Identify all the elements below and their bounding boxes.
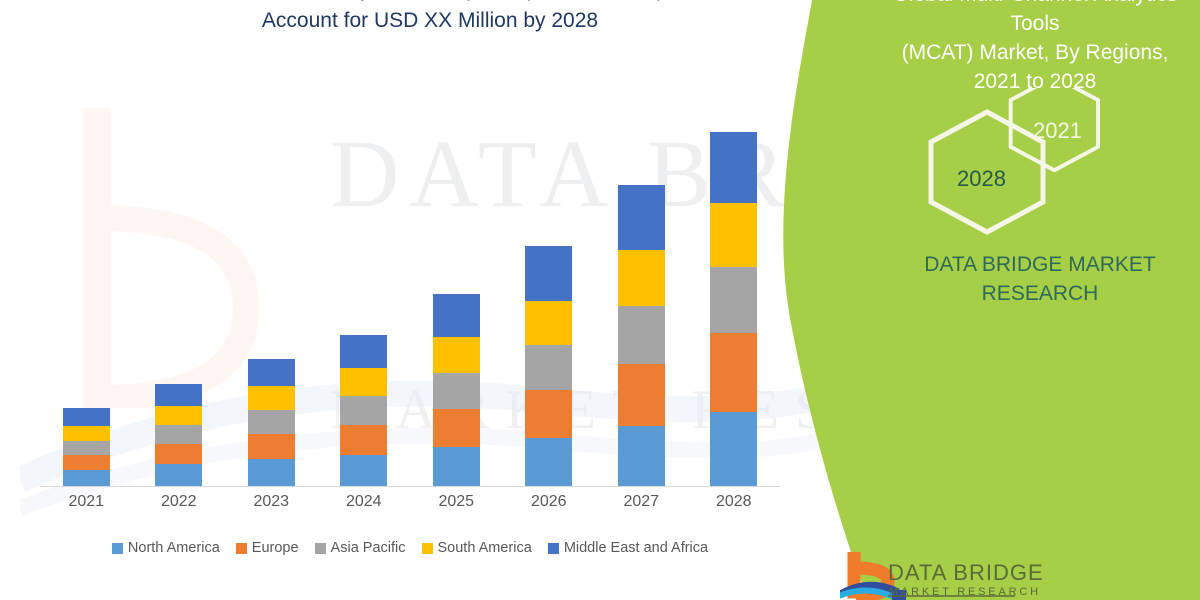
brand-name: DATA BRIDGE MARKET RESEARCH <box>890 250 1190 308</box>
hexagon-pair: 2021 2028 <box>915 88 1145 238</box>
hexagon-outlines-icon <box>915 88 1145 238</box>
panel-title-line-2: (MCAT) Market, By Regions, <box>870 38 1200 67</box>
panel-title-line-1: Global Multi-Channel Analytics Tools <box>870 0 1200 38</box>
footer-logo-subtitle: MARKET RESEARCH <box>889 586 1041 598</box>
brand-name-line-2: RESEARCH <box>890 279 1190 308</box>
panel-title: Global Multi-Channel Analytics Tools (MC… <box>870 0 1200 96</box>
footer-logo-name: DATA BRIDGE <box>888 560 1044 586</box>
hexagon-label-2028: 2028 <box>957 166 1006 192</box>
hexagon-label-2021: 2021 <box>1033 118 1082 144</box>
brand-name-line-1: DATA BRIDGE MARKET <box>890 250 1190 279</box>
infographic-canvas: DATA BRIDGE MARKET RESEARCH Global Multi… <box>0 0 1200 600</box>
